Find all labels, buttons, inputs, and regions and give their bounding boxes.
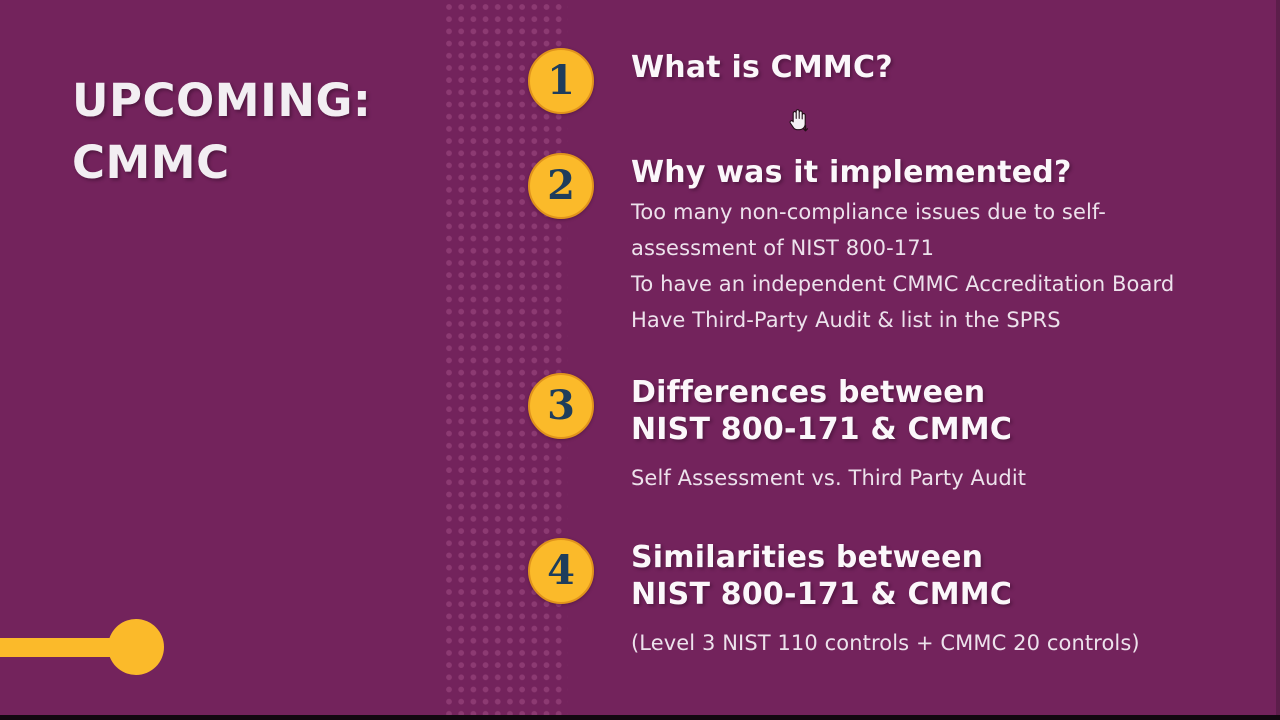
- agenda-number-label: 4: [547, 551, 575, 591]
- right-edge-letterbox: [1276, 0, 1280, 720]
- slide-title-line-1: UPCOMING:: [72, 70, 422, 132]
- agenda-body-line: Have Third-Party Audit & list in the SPR…: [631, 300, 1271, 336]
- agenda-heading: NIST 800-171 & CMMC: [631, 410, 1271, 449]
- slide-title: UPCOMING: CMMC: [72, 70, 422, 194]
- agenda-number-label: 2: [547, 166, 575, 206]
- bottom-letterbox-bar: [0, 715, 1280, 720]
- agenda-body-line: (Level 3 NIST 110 controls + CMMC 20 con…: [631, 614, 1271, 659]
- agenda-number-badge: 2: [528, 153, 594, 219]
- presentation-slide: UPCOMING: CMMC 1 What is CMMC? 2 Why was…: [0, 0, 1280, 720]
- accent-circle: [108, 619, 164, 675]
- agenda-heading: Differences between: [631, 373, 1271, 412]
- slide-title-line-2: CMMC: [72, 132, 422, 194]
- agenda-item-text: Similarities between NIST 800-171 & CMMC…: [631, 538, 1271, 659]
- agenda-item-text: What is CMMC?: [631, 48, 1271, 87]
- agenda-heading: Similarities between: [631, 538, 1271, 577]
- agenda-number-label: 3: [547, 386, 575, 426]
- agenda-body-line: To have an independent CMMC Accreditatio…: [631, 264, 1271, 300]
- agenda-body-line: assessment of NIST 800-171: [631, 228, 1271, 264]
- agenda-heading: What is CMMC?: [631, 48, 1271, 87]
- agenda-item-text: Differences between NIST 800-171 & CMMC …: [631, 373, 1271, 494]
- agenda-number-badge: 1: [528, 48, 594, 114]
- agenda-heading: NIST 800-171 & CMMC: [631, 575, 1271, 614]
- accent-bar: [0, 638, 122, 657]
- agenda-number-badge: 3: [528, 373, 594, 439]
- agenda-number-badge: 4: [528, 538, 594, 604]
- agenda-number-label: 1: [547, 61, 575, 101]
- agenda-body-line: Self Assessment vs. Third Party Audit: [631, 449, 1271, 494]
- agenda-body-line: Too many non-compliance issues due to se…: [631, 192, 1271, 228]
- agenda-item-text: Why was it implemented? Too many non-com…: [631, 153, 1271, 336]
- agenda-list: 1 What is CMMC? 2 Why was it implemented…: [528, 0, 1268, 720]
- agenda-heading: Why was it implemented?: [631, 153, 1271, 192]
